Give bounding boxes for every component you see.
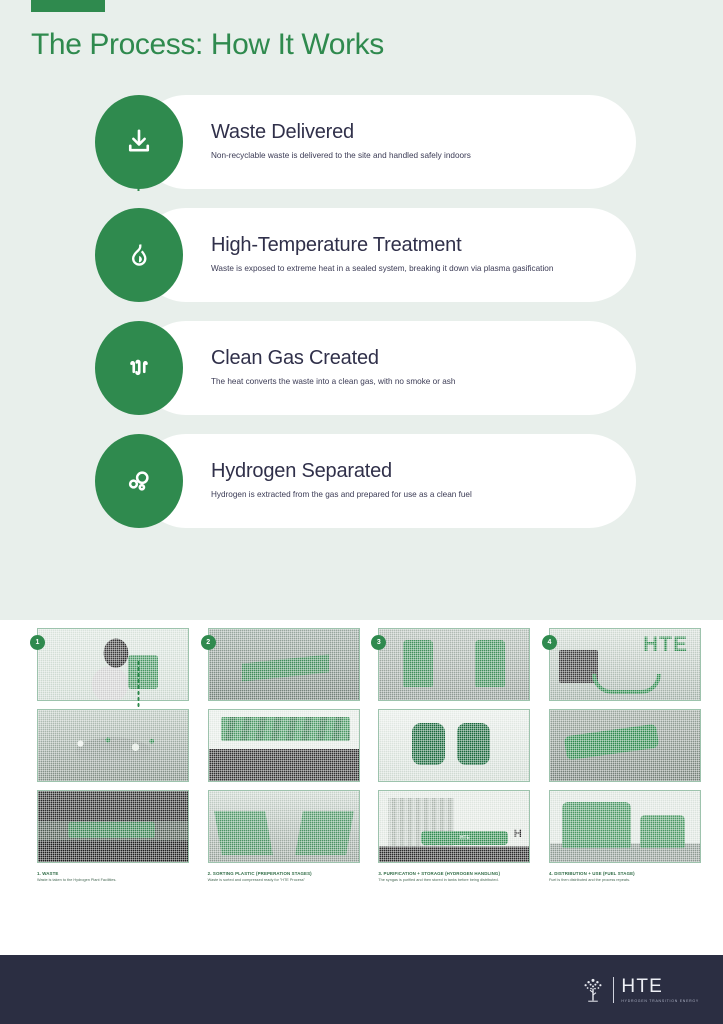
step-description: The heat converts the waste into a clean… (211, 376, 571, 388)
process-gallery: 1 1. WASTE Waste is taken to the Hydroge… (0, 628, 723, 950)
process-step-3[interactable]: Clean Gas Created The heat converts the … (0, 321, 723, 415)
step-description: Waste is exposed to extreme heat in a se… (211, 263, 571, 275)
process-step-2[interactable]: High-Temperature Treatment Waste is expo… (0, 208, 723, 302)
hero-section: The Process: How It Works Waste Delivere… (0, 0, 723, 620)
gallery-thumb[interactable]: HTE (549, 628, 701, 701)
caption-title: 1. WASTE (37, 871, 189, 877)
caption-description: Fuel is then distributed and the process… (549, 878, 701, 884)
logo-text-block: HTE HYDROGEN TRANSITION ENERGY (621, 977, 699, 1003)
process-timeline: Waste Delivered Non-recyclable waste is … (0, 95, 723, 547)
gallery-thumb[interactable] (208, 790, 360, 863)
step-badge-4 (95, 434, 183, 528)
step-title: Clean Gas Created (211, 347, 606, 370)
column-number-badge: 1 (30, 635, 45, 650)
tree-icon (580, 975, 606, 1005)
molecule-bubbles-icon (124, 466, 154, 496)
step-pill: Hydrogen Separated Hydrogen is extracted… (139, 434, 636, 528)
step-description: Non-recyclable waste is delivered to the… (211, 150, 571, 162)
gallery-thumb[interactable] (37, 709, 189, 782)
timeline-connector (137, 660, 140, 708)
accent-bar (31, 0, 105, 12)
step-badge-2 (95, 208, 183, 302)
gallery-column-3: 3 HTE H 3. PURIFICATION + STORAGE (HYDRO… (363, 628, 530, 950)
step-description: Hydrogen is extracted from the gas and p… (211, 489, 571, 501)
step-title: High-Temperature Treatment (211, 234, 606, 257)
gallery-caption: 3. PURIFICATION + STORAGE (HYDROGEN HAND… (378, 871, 530, 884)
step-pill: High-Temperature Treatment Waste is expo… (139, 208, 636, 302)
gallery-thumb[interactable] (208, 709, 360, 782)
h2-label: H (514, 828, 522, 840)
tanker-hte-label: HTE (421, 831, 508, 845)
column-number-badge: 2 (201, 635, 216, 650)
process-step-1[interactable]: Waste Delivered Non-recyclable waste is … (0, 95, 723, 189)
step-title: Waste Delivered (211, 121, 606, 144)
page-title: The Process: How It Works (31, 28, 384, 62)
step-badge-3 (95, 321, 183, 415)
gallery-caption: 4. DISTRIBUTION + USE (FUEL STAGE) Fuel … (549, 871, 701, 884)
gallery-thumb[interactable] (37, 790, 189, 863)
gallery-thumb[interactable] (378, 709, 530, 782)
footer-bar: HTE HYDROGEN TRANSITION ENERGY (0, 955, 723, 1024)
truck-hte-label: HTE (643, 633, 688, 657)
gas-waves-icon (124, 353, 154, 383)
gallery-thumb[interactable] (549, 790, 701, 863)
step-title: Hydrogen Separated (211, 460, 606, 483)
gallery-thumb[interactable] (378, 628, 530, 701)
caption-title: 2. SORTING PLASTIC (PREPERATION STAGES) (208, 871, 360, 877)
caption-title: 3. PURIFICATION + STORAGE (HYDROGEN HAND… (378, 871, 530, 877)
download-tray-icon (124, 127, 154, 157)
infographic-page: The Process: How It Works Waste Delivere… (0, 0, 723, 1024)
gallery-column-4: 4 HTE 4. DISTRIBUTION + USE (FUEL STAGE)… (534, 628, 701, 950)
gallery-thumb[interactable] (37, 628, 189, 701)
flame-icon (125, 241, 153, 269)
hte-logo: HTE HYDROGEN TRANSITION ENERGY (580, 975, 699, 1005)
caption-description: Waste is sorted and compressed ready for… (208, 878, 360, 884)
gallery-column-2: 2 2. SORTING PLASTIC (PREPERATION STAGES… (193, 628, 360, 950)
gallery-column-1: 1 1. WASTE Waste is taken to the Hydroge… (22, 628, 189, 950)
gallery-thumb[interactable] (549, 709, 701, 782)
caption-description: Waste is taken to the Hydrogen Plant Fac… (37, 878, 189, 884)
gallery-caption: 2. SORTING PLASTIC (PREPERATION STAGES) … (208, 871, 360, 884)
logo-name: HTE (621, 977, 699, 996)
logo-divider (613, 977, 614, 1003)
process-step-4[interactable]: Hydrogen Separated Hydrogen is extracted… (0, 434, 723, 528)
logo-tagline: HYDROGEN TRANSITION ENERGY (621, 999, 699, 1003)
gallery-thumb[interactable] (208, 628, 360, 701)
step-pill: Clean Gas Created The heat converts the … (139, 321, 636, 415)
step-badge-1 (95, 95, 183, 189)
gallery-caption: 1. WASTE Waste is taken to the Hydrogen … (37, 871, 189, 884)
caption-title: 4. DISTRIBUTION + USE (FUEL STAGE) (549, 871, 701, 877)
gallery-thumb[interactable]: HTE H (378, 790, 530, 863)
column-number-badge: 4 (542, 635, 557, 650)
caption-description: The syngas is purified and then stored i… (378, 878, 530, 884)
step-pill: Waste Delivered Non-recyclable waste is … (139, 95, 636, 189)
